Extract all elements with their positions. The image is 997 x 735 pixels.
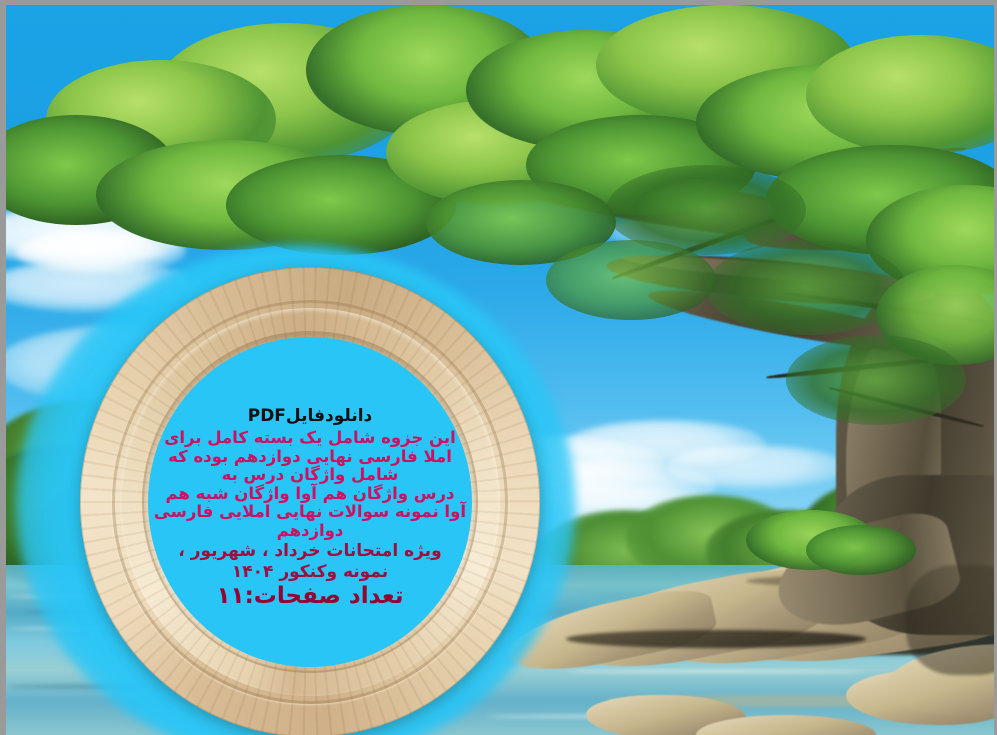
water-reflection <box>566 670 866 673</box>
promo-highlight-line: ویژه امتحانات خرداد ، شهریور ، <box>154 542 466 560</box>
promo-image: دانلودفایلPDF این جزوه شامل یک بسته کامل… <box>0 0 997 735</box>
cyan-content-disc: دانلودفایلPDF این جزوه شامل یک بسته کامل… <box>148 337 472 667</box>
promo-text-block: دانلودفایلPDF این جزوه شامل یک بسته کامل… <box>148 407 472 608</box>
promo-heading: دانلودفایلPDF <box>154 407 466 425</box>
promo-highlight-line: نمونه وکنکور ۱۴۰۴ <box>154 563 466 581</box>
promo-body-line: شامل واژگان درس به <box>154 466 466 483</box>
promo-body-line: املا فارسی نهایی دوازدهم بوده که <box>154 448 466 465</box>
photo-canvas: دانلودفایلPDF این جزوه شامل یک بسته کامل… <box>6 5 994 735</box>
promo-body-line: درس واژگان هم آوا واژگان شبه هم <box>154 485 466 502</box>
promo-body-line: آوا نمونه سوالات نهایی املایی فارسی <box>154 503 466 520</box>
wooden-ring-frame: دانلودفایلPDF این جزوه شامل یک بسته کامل… <box>80 267 540 735</box>
promo-body-line: دوازدهم <box>154 522 466 539</box>
bank-shadow <box>906 565 994 675</box>
rock-crevice <box>566 630 866 648</box>
promo-body-line: این جزوه شامل یک بسته کامل برای <box>154 429 466 446</box>
page-count-label: تعداد صفحات:۱۱ <box>154 584 466 608</box>
